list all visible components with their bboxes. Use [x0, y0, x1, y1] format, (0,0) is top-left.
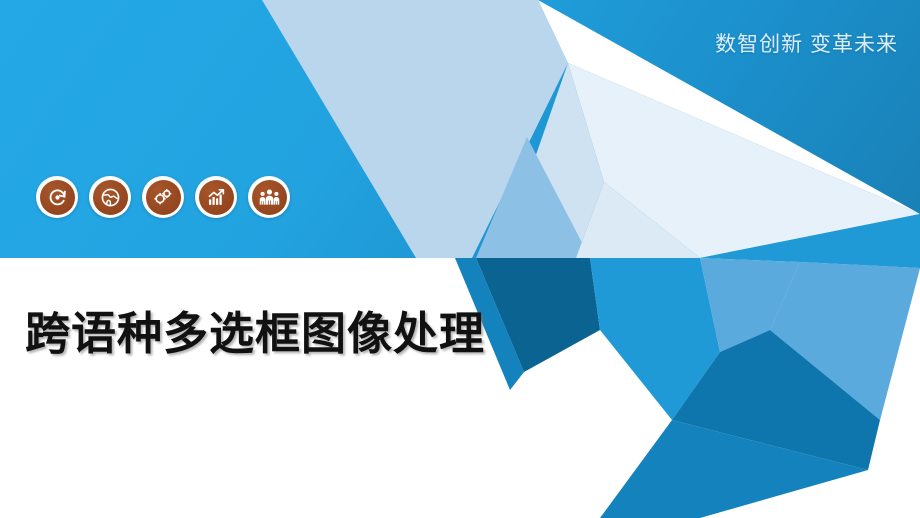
icon-disc: [40, 180, 75, 215]
refresh-cycle-icon[interactable]: [36, 176, 78, 218]
page-title: 跨语种多选框图像处理: [25, 297, 485, 362]
icon-disc: [93, 180, 128, 215]
low-poly-artwork: [0, 0, 920, 518]
facet-group: [262, 0, 920, 518]
icon-disc: [252, 180, 287, 215]
gears-icon[interactable]: [142, 176, 184, 218]
people-group-icon[interactable]: [248, 176, 290, 218]
icon-disc: [146, 180, 181, 215]
icon-disc: [199, 180, 234, 215]
globe-icon[interactable]: [89, 176, 131, 218]
bar-chart-icon[interactable]: [195, 176, 237, 218]
presentation-slide: 数智创新 变革未来: [0, 0, 920, 518]
icon-strip: [36, 176, 290, 218]
tagline-text: 数智创新 变革未来: [715, 28, 898, 58]
